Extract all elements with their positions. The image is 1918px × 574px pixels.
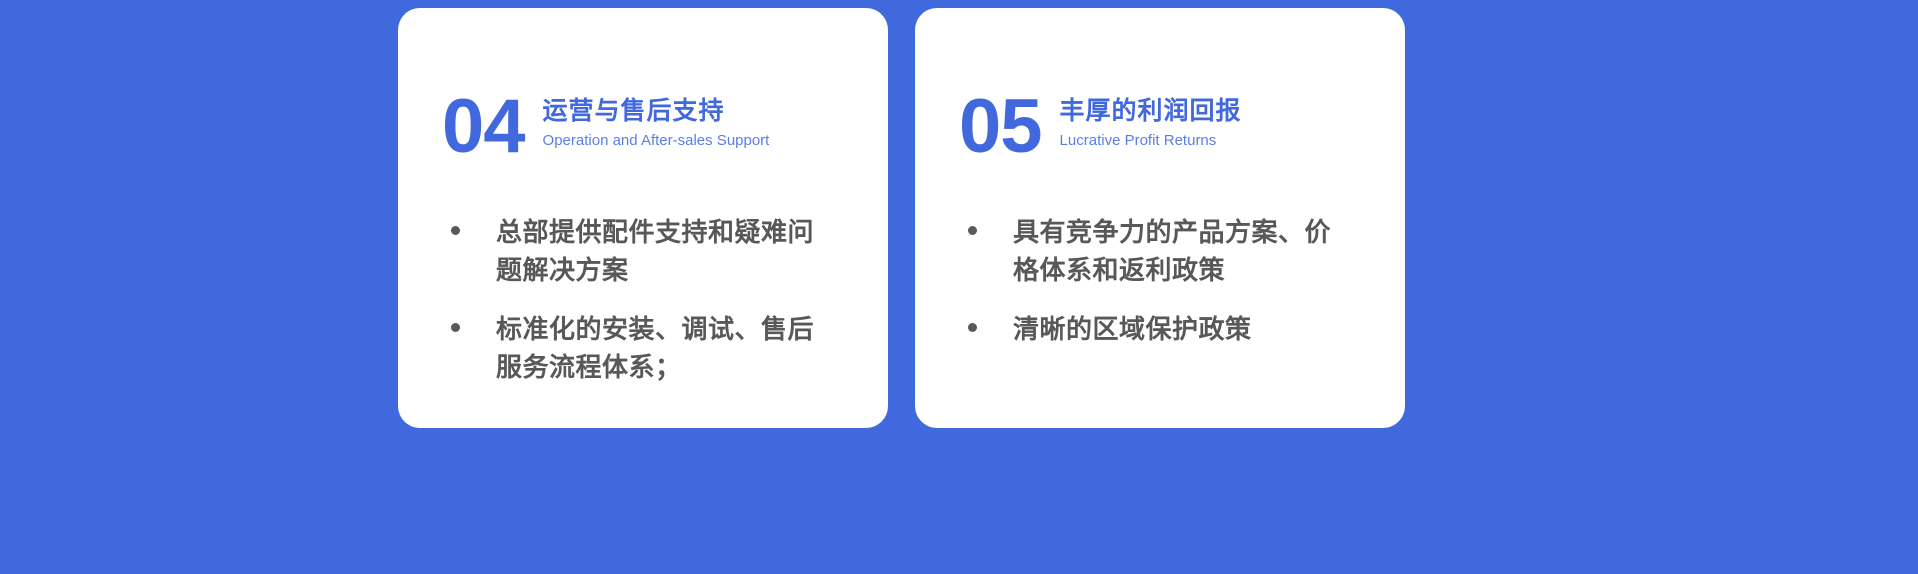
card-title: 丰厚的利润回报 — [1060, 97, 1242, 126]
card-header-text: 丰厚的利润回报 Lucrative Profit Returns — [1060, 97, 1242, 158]
list-item: 标准化的安装、调试、售后服务流程体系； — [442, 311, 844, 386]
card-subtitle: Operation and After-sales Support — [543, 130, 770, 153]
bullet-dot-icon — [968, 323, 977, 332]
card-header: 05 丰厚的利润回报 Lucrative Profit Returns — [959, 84, 1361, 158]
card-bullet-list: 具有竞争力的产品方案、价格体系和返利政策 清晰的区域保护政策 — [959, 214, 1361, 349]
card-subtitle: Lucrative Profit Returns — [1060, 130, 1242, 153]
card-number-badge: 05 — [959, 96, 1042, 158]
card-header-text: 运营与售后支持 Operation and After-sales Suppor… — [543, 97, 770, 158]
card-header: 04 运营与售后支持 Operation and After-sales Sup… — [442, 84, 844, 158]
bullet-text: 具有竞争力的产品方案、价格体系和返利政策 — [1013, 214, 1333, 289]
bullet-dot-icon — [968, 226, 977, 235]
slide-canvas: 04 运营与售后支持 Operation and After-sales Sup… — [0, 0, 1918, 574]
card-title: 运营与售后支持 — [543, 97, 770, 126]
list-item: 清晰的区域保护政策 — [959, 311, 1361, 349]
feature-card-04[interactable]: 04 运营与售后支持 Operation and After-sales Sup… — [398, 8, 888, 428]
bullet-dot-icon — [451, 323, 460, 332]
card-bullet-list: 总部提供配件支持和疑难问题解决方案 标准化的安装、调试、售后服务流程体系； — [442, 214, 844, 387]
list-item: 具有竞争力的产品方案、价格体系和返利政策 — [959, 214, 1361, 289]
feature-card-05[interactable]: 05 丰厚的利润回报 Lucrative Profit Returns 具有竞争… — [915, 8, 1405, 428]
list-item: 总部提供配件支持和疑难问题解决方案 — [442, 214, 844, 289]
cards-row: 04 运营与售后支持 Operation and After-sales Sup… — [398, 8, 1405, 428]
bullet-text: 清晰的区域保护政策 — [1013, 311, 1252, 349]
bullet-dot-icon — [451, 226, 460, 235]
bullet-text: 总部提供配件支持和疑难问题解决方案 — [496, 214, 816, 289]
bullet-text: 标准化的安装、调试、售后服务流程体系； — [496, 311, 816, 386]
card-number-badge: 04 — [442, 96, 525, 158]
